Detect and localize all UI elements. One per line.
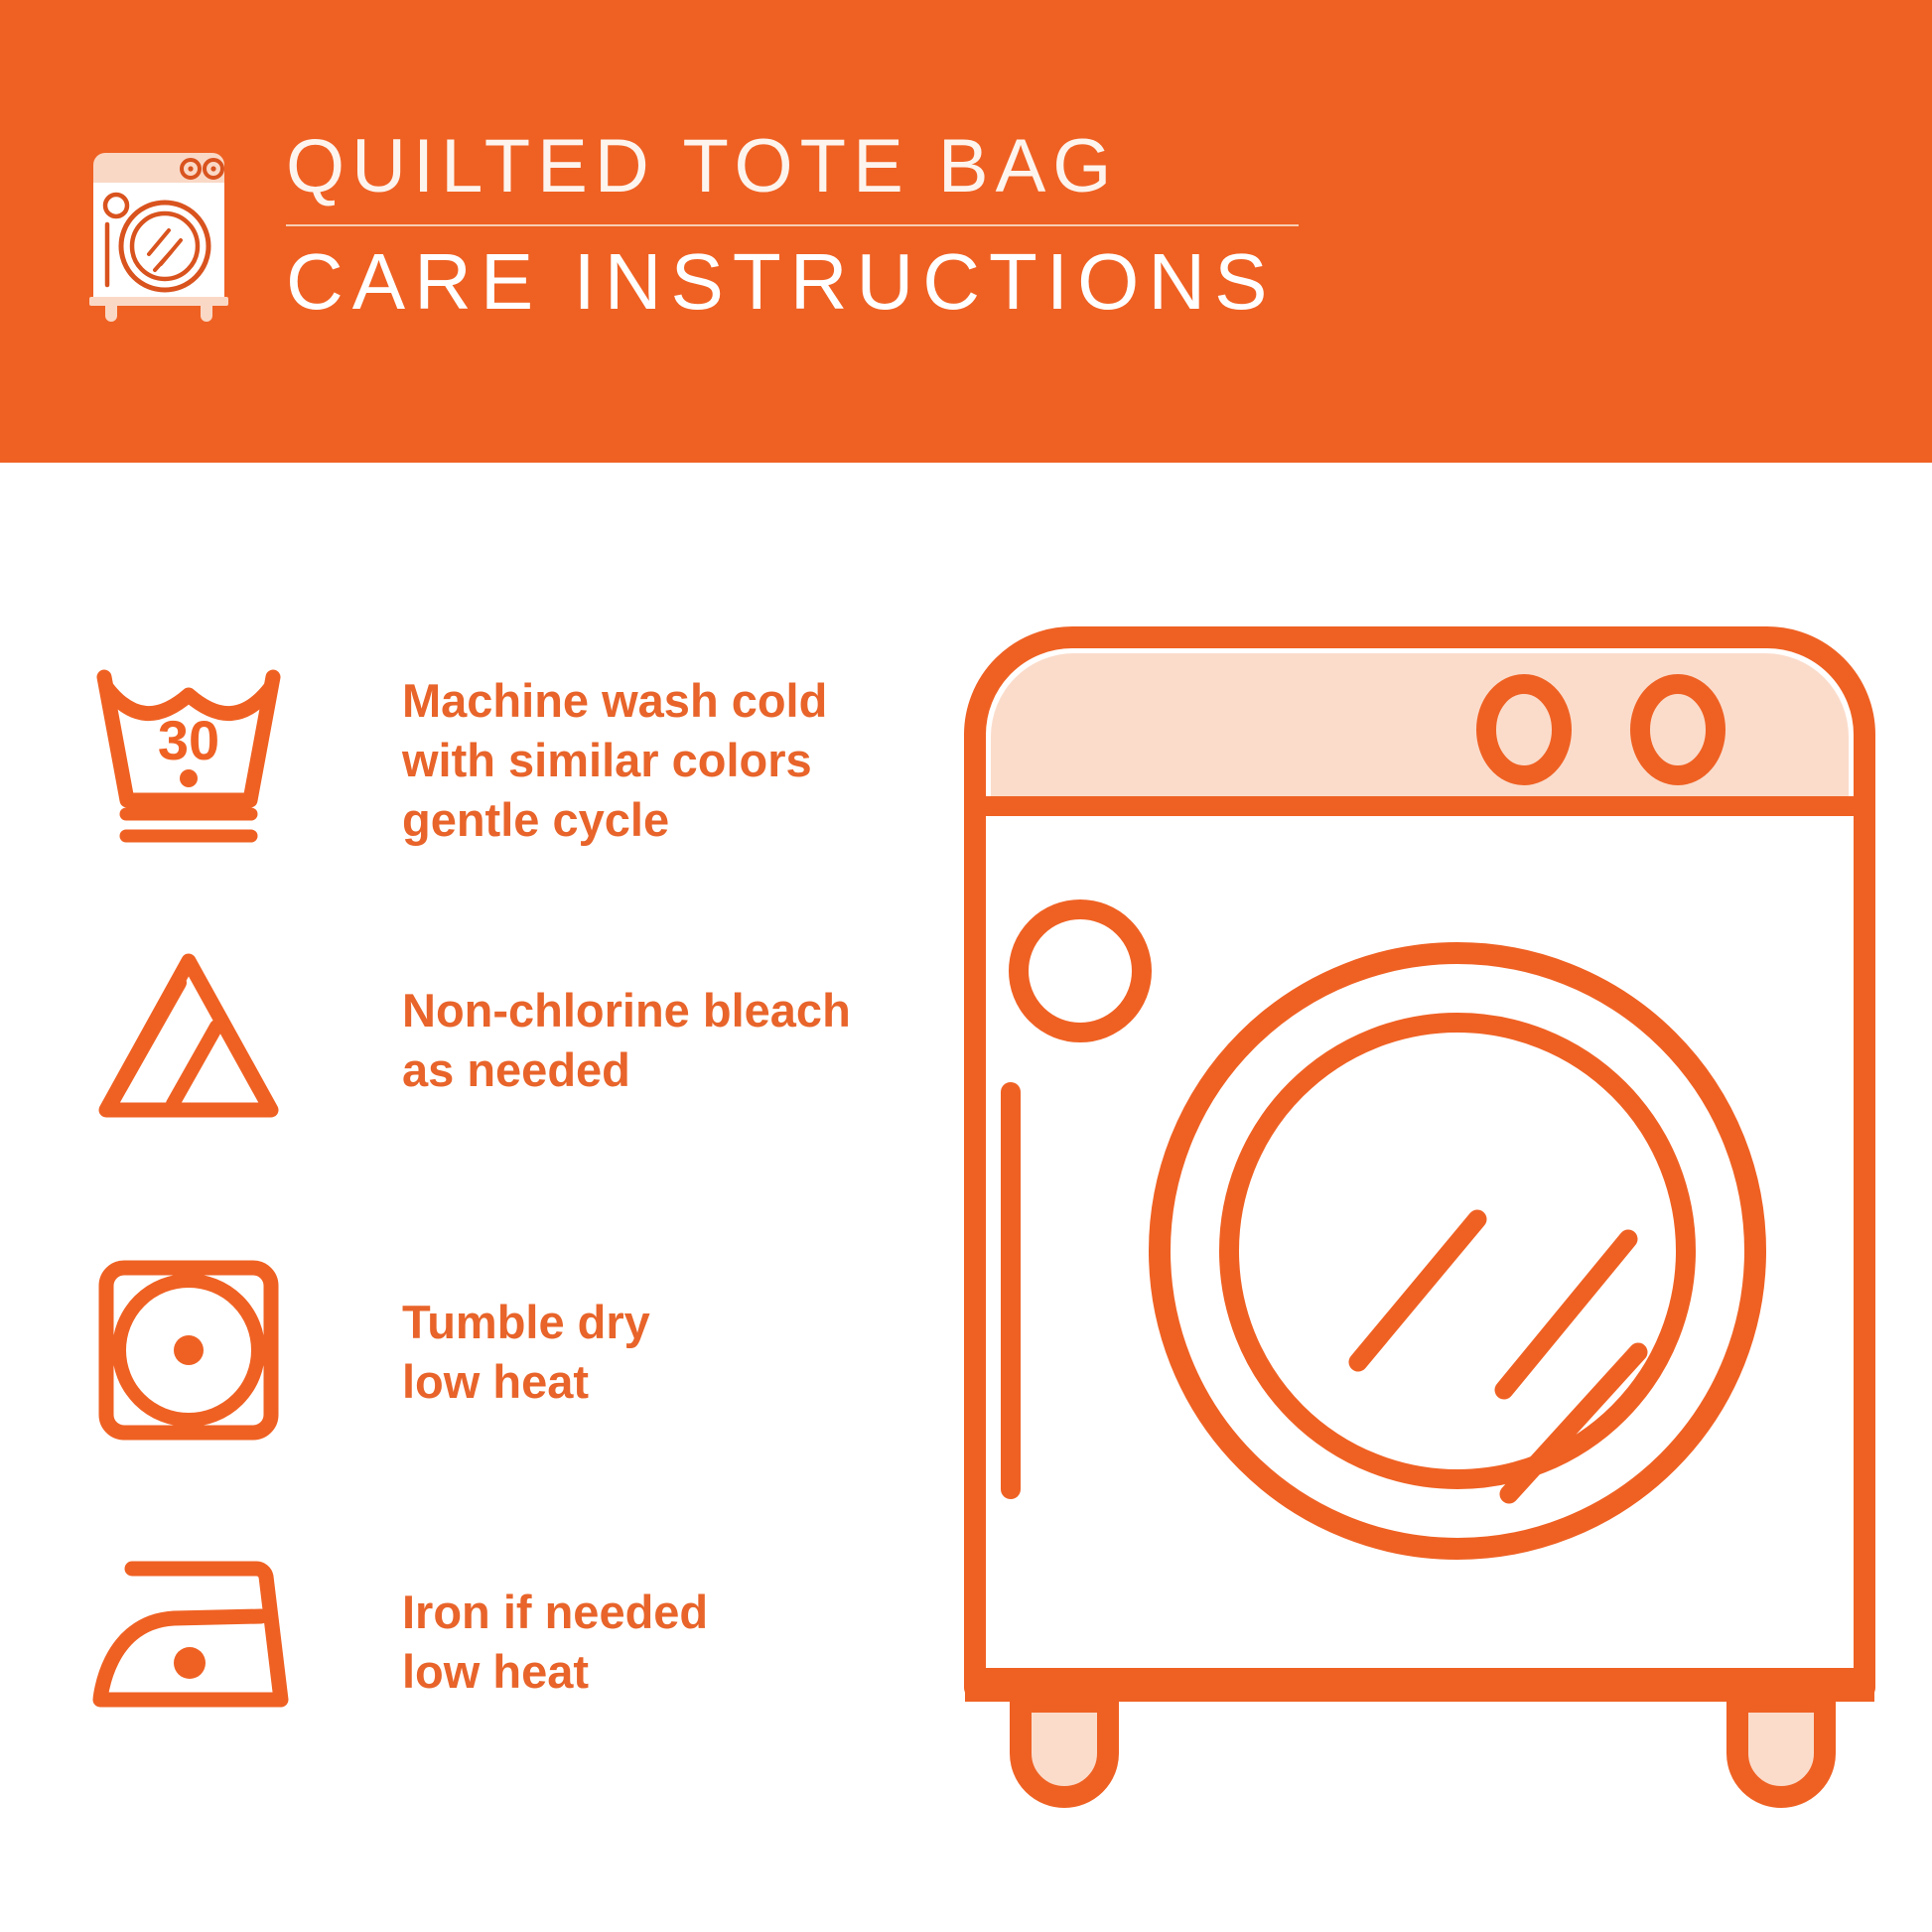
page-subtitle: CARE INSTRUCTIONS [286,242,1299,322]
wash-temperature-value: 30 [158,709,219,771]
care-label-iron: Iron if needed low heat [402,1583,708,1702]
care-label-bleach: Non-chlorine bleach as needed [402,981,851,1100]
iron-heat-dot [174,1647,206,1679]
tumble-dry-low-icon [84,1251,293,1449]
care-row-iron: Iron if needed low heat [84,1539,938,1737]
care-row-tumble-dry: Tumble dry low heat [84,1251,938,1449]
care-label-tumble-dry: Tumble dry low heat [402,1293,650,1412]
care-label-machine-wash: Machine wash cold with similar colors ge… [402,671,827,850]
care-row-machine-wash: 30 Machine wash cold with similar colors… [84,655,938,854]
page-title: QUILTED TOTE BAG [286,129,1299,205]
title-divider [286,224,1299,226]
care-instructions-infographic: QUILTED TOTE BAG CARE INSTRUCTIONS 30 Ma… [0,0,1932,1932]
leg-right [1737,1702,1825,1797]
iron-low-heat-icon [84,1539,293,1737]
leg-left [1021,1702,1108,1797]
wash-tub-30-gentle-icon: 30 [84,655,293,854]
non-chlorine-bleach-triangle-icon [84,943,293,1142]
care-row-bleach: Non-chlorine bleach as needed [84,943,938,1142]
washing-machine-icon [79,143,238,322]
header-banner: QUILTED TOTE BAG CARE INSTRUCTIONS [0,0,1932,463]
tumble-dry-heat-dot [174,1335,204,1365]
front-load-washing-machine-illustration [953,616,1886,1847]
wash-heat-dot [180,769,198,787]
header-content: QUILTED TOTE BAG CARE INSTRUCTIONS [79,129,1299,322]
header-title-block: QUILTED TOTE BAG CARE INSTRUCTIONS [286,129,1299,322]
